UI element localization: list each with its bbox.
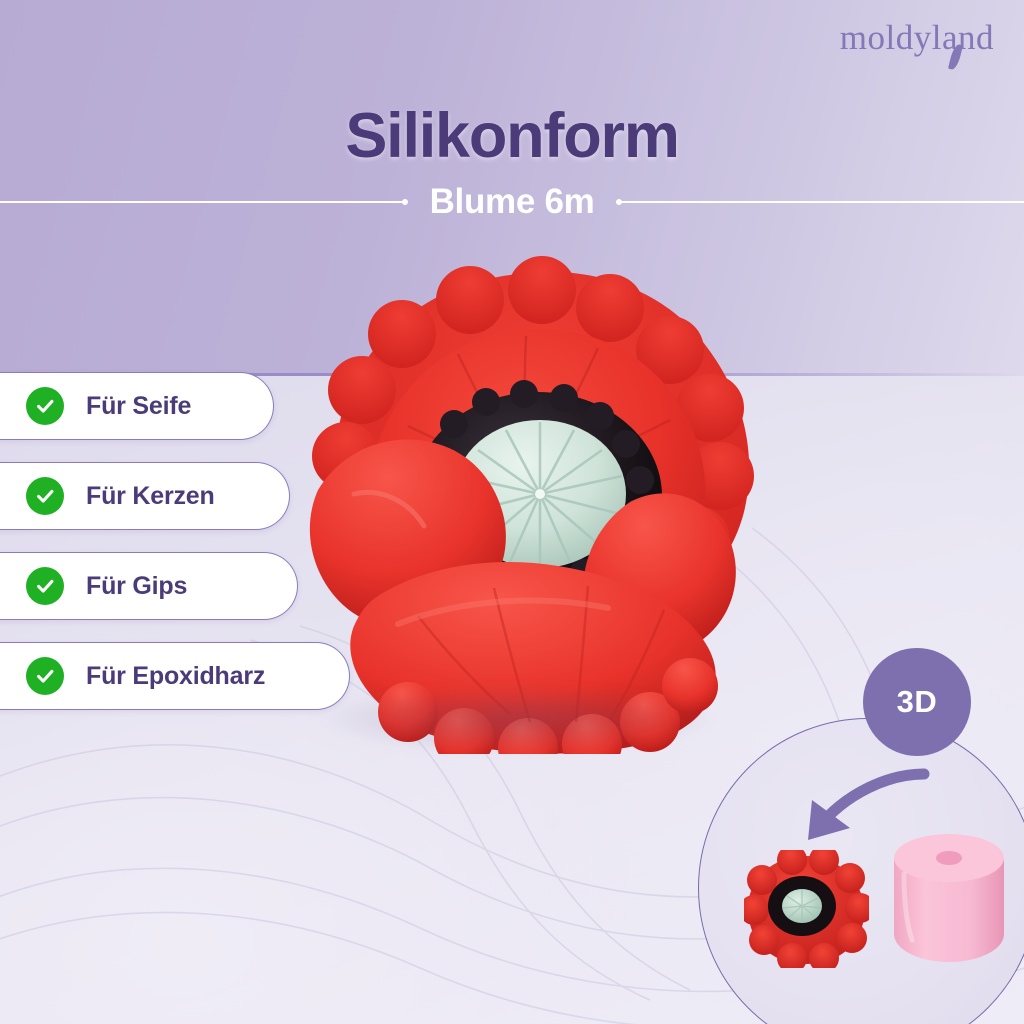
badge-3d-label: 3D [897,684,938,720]
brand-logo: moldyland [840,20,994,55]
page-title: Silikonform [0,100,1024,172]
feature-label: Für Gips [86,572,187,601]
feature-item-gips: Für Gips [0,552,298,620]
subtitle-rule-right [616,201,1024,203]
inset-flower-cast [744,850,869,968]
inset-silicone-mold [888,830,1010,970]
feature-item-kerzen: Für Kerzen [0,462,290,530]
product-photo-poppy-flower [258,244,778,754]
poppy-flower-illustration [258,244,778,754]
feature-label: Für Epoxidharz [86,662,265,691]
badge-3d: 3D [863,648,971,756]
subtitle-row: Blume 6m [0,182,1024,222]
feature-item-seife: Für Seife [0,372,274,440]
product-listing-image: moldyland Silikonform Blume 6m Für Seife [0,0,1024,1024]
check-circle-icon [26,477,64,515]
feature-label: Für Kerzen [86,482,215,511]
brand-logo-text: moldyland [840,20,994,55]
check-circle-icon [26,387,64,425]
check-circle-icon [26,657,64,695]
check-circle-icon [26,567,64,605]
feature-label: Für Seife [86,392,191,421]
product-shadow [318,684,718,754]
page-subtitle: Blume 6m [408,182,617,222]
subtitle-rule-left [0,201,408,203]
